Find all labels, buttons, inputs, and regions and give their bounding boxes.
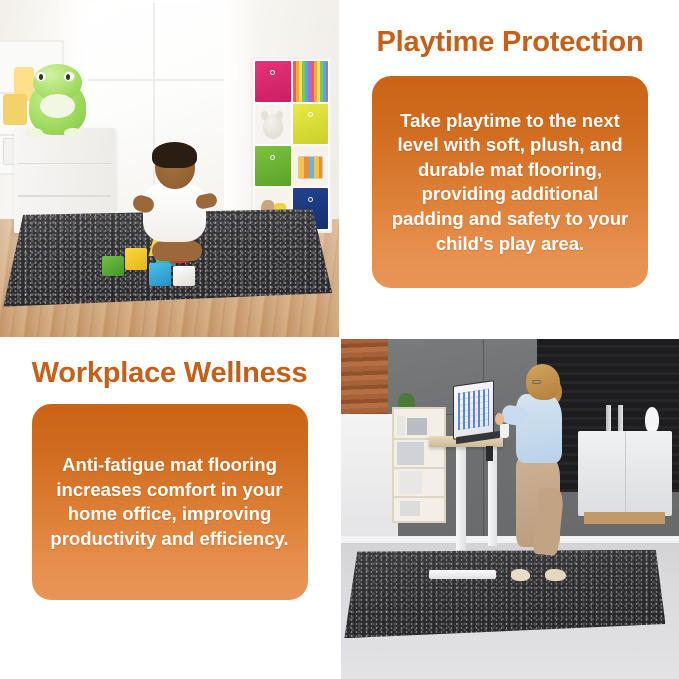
home-office-photo: [341, 339, 679, 679]
shelf-row: [394, 467, 444, 469]
shelf-row: [394, 496, 444, 498]
shelf-books-stack: [407, 418, 427, 435]
toy-block-green: [102, 256, 124, 276]
office-shelving-unit: [392, 407, 446, 523]
decor-vase: [645, 407, 659, 433]
baby-legs: [152, 241, 202, 261]
cube-storage-shelf: [251, 57, 332, 232]
frog-foot-right: [64, 128, 82, 138]
collage-grid: Playtime Protection Take playtime to the…: [0, 0, 679, 679]
storage-bin-pink: [255, 61, 291, 101]
stuffed-frog-toy: [24, 64, 92, 135]
playroom-photo: [0, 0, 339, 337]
desk-foot-base: [429, 570, 497, 579]
workplace-callout-text: Anti-fatigue mat flooring increases comf…: [46, 453, 294, 551]
decor-cylinder-left: [606, 405, 611, 432]
bookshelf-books: [293, 61, 329, 101]
playtime-callout-text: Take playtime to the next level with sof…: [386, 109, 634, 257]
woman-glasses: [532, 380, 541, 384]
anti-fatigue-mat-speckle-texture: [344, 550, 665, 638]
playtime-callout-box: Take playtime to the next level with sof…: [372, 76, 648, 288]
page-title-workplace: Workplace Wellness: [32, 358, 308, 388]
bin-handle-icon: [270, 155, 275, 160]
window-mullion-horizontal: [88, 79, 224, 81]
baby-shirt: [143, 184, 206, 242]
white-cabinet: [578, 431, 673, 516]
laptop-screen: [453, 380, 494, 440]
toy-block-blue: [149, 263, 171, 287]
decor-cylinder-right: [618, 405, 623, 432]
toy-box-cube: [293, 146, 329, 186]
wood-accent-wall: [341, 339, 388, 421]
frog-belly: [40, 94, 75, 118]
woman-back-leg: [533, 487, 565, 557]
playtime-protection-panel: Playtime Protection Take playtime to the…: [341, 0, 679, 337]
baby-figure: [139, 145, 210, 256]
desk-column-left: [456, 444, 466, 549]
woman-hand: [495, 413, 504, 426]
playroom-scene: [0, 0, 339, 337]
woman-shoe-back: [545, 569, 566, 582]
bin-handle-icon: [270, 70, 275, 75]
dresser-drawer-line: [18, 195, 112, 197]
cabinet-door-split: [625, 431, 627, 516]
dresser-drawer-line: [18, 163, 112, 165]
bear-ear-right: [276, 111, 283, 120]
woman-shoe-front: [511, 569, 530, 582]
screen-chart-content: [457, 389, 488, 430]
bin-handle-icon: [308, 197, 313, 202]
storage-bin-yellow: [293, 104, 329, 144]
shelf-basket: [400, 501, 420, 517]
bin-handle-icon: [308, 112, 313, 117]
woman-blouse: [516, 394, 562, 464]
workplace-wellness-panel: Workplace Wellness Anti-fatigue mat floo…: [0, 339, 339, 679]
shelf-box: [399, 471, 422, 493]
office-scene: [341, 339, 679, 679]
teddy-bear-cube: [255, 104, 291, 144]
xylophone-toy: [298, 156, 324, 179]
workplace-callout-box: Anti-fatigue mat flooring increases comf…: [32, 404, 308, 600]
toy-block-white: [173, 266, 195, 286]
low-white-wall: [341, 414, 398, 543]
storage-bin-green: [255, 146, 291, 186]
desk-motor-housing: [486, 446, 493, 461]
page-title-playtime: Playtime Protection: [377, 27, 644, 57]
frog-foot-left: [25, 128, 43, 138]
shelf-binder: [397, 416, 405, 436]
shelf-files: [397, 442, 424, 464]
cabinet-wood-legs: [584, 512, 665, 524]
standing-woman-figure: [507, 366, 581, 577]
frog-pupil-left: [39, 74, 43, 80]
baby-hair: [152, 142, 198, 169]
